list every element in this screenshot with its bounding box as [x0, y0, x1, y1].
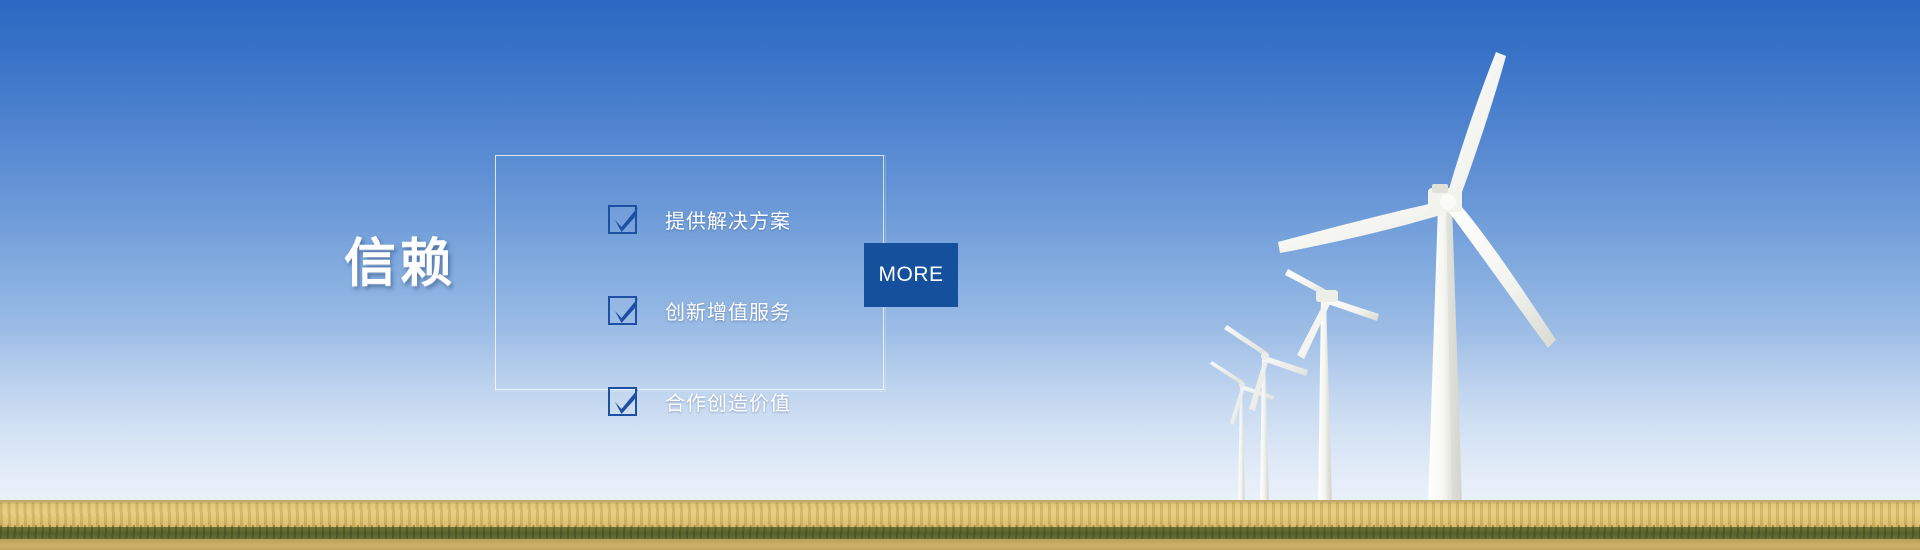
feature-list: 提供解决方案 创新增值服务 合作创造价值 [608, 196, 791, 424]
wind-turbine-medium [1285, 269, 1379, 508]
checkbox-checked-icon[interactable] [608, 387, 637, 416]
wind-turbine-group [0, 0, 1920, 550]
list-item[interactable]: 合作创造价值 [608, 378, 791, 424]
checkbox-checked-icon[interactable] [608, 296, 637, 325]
hero-banner: 信赖 提供解决方案 创新增值服务 合作创造 [0, 0, 1920, 550]
list-item-label: 创新增值服务 [665, 296, 791, 325]
foreground-strip [0, 539, 1920, 550]
more-button[interactable]: MORE [864, 243, 958, 307]
page-title: 信赖 [330, 238, 470, 290]
list-item[interactable]: 创新增值服务 [608, 287, 791, 333]
list-item[interactable]: 提供解决方案 [608, 196, 791, 242]
list-item-label: 合作创造价值 [665, 387, 791, 416]
list-item-label: 提供解决方案 [665, 205, 791, 234]
checkbox-checked-icon[interactable] [608, 205, 637, 234]
